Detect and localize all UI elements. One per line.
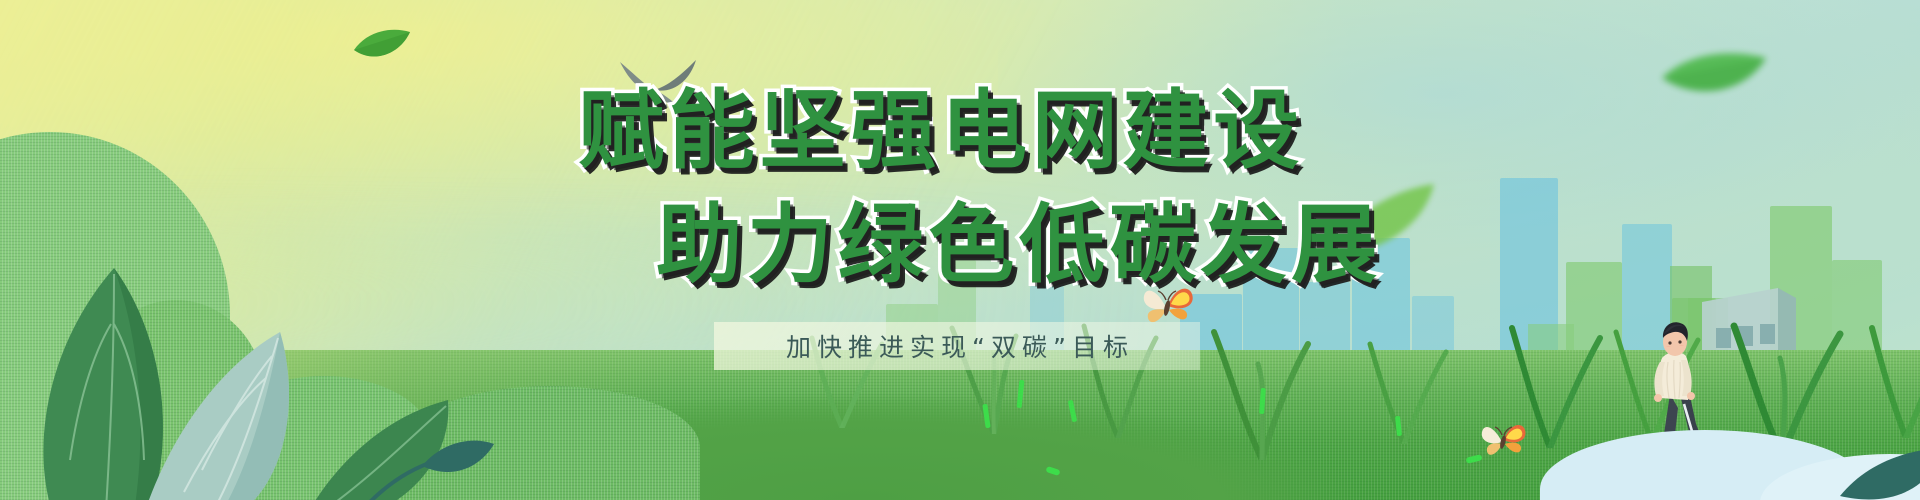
subtitle-bar: 加快推进实现“双碳”目标 [714,322,1200,370]
stem-leaf-icon [368,416,498,500]
grass-tuft [1196,310,1336,460]
floating-leaf-icon [1318,182,1438,262]
grass-tuft [1856,308,1920,438]
swallow-bird-icon [616,58,702,114]
foreground-leaf-pale [128,330,328,500]
floating-leaf-icon [1660,48,1770,104]
butterfly-icon [1478,418,1530,460]
floating-leaf-icon [352,26,412,64]
subtitle-text: 加快推进实现“双碳”目标 [780,328,1134,364]
stem-leaf-icon [1836,430,1920,500]
eco-power-grid-banner: 赋能坚强电网建设 助力绿色低碳发展 加快推进实现“双碳”目标 [0,0,1920,500]
grass-tuft [1352,324,1462,444]
